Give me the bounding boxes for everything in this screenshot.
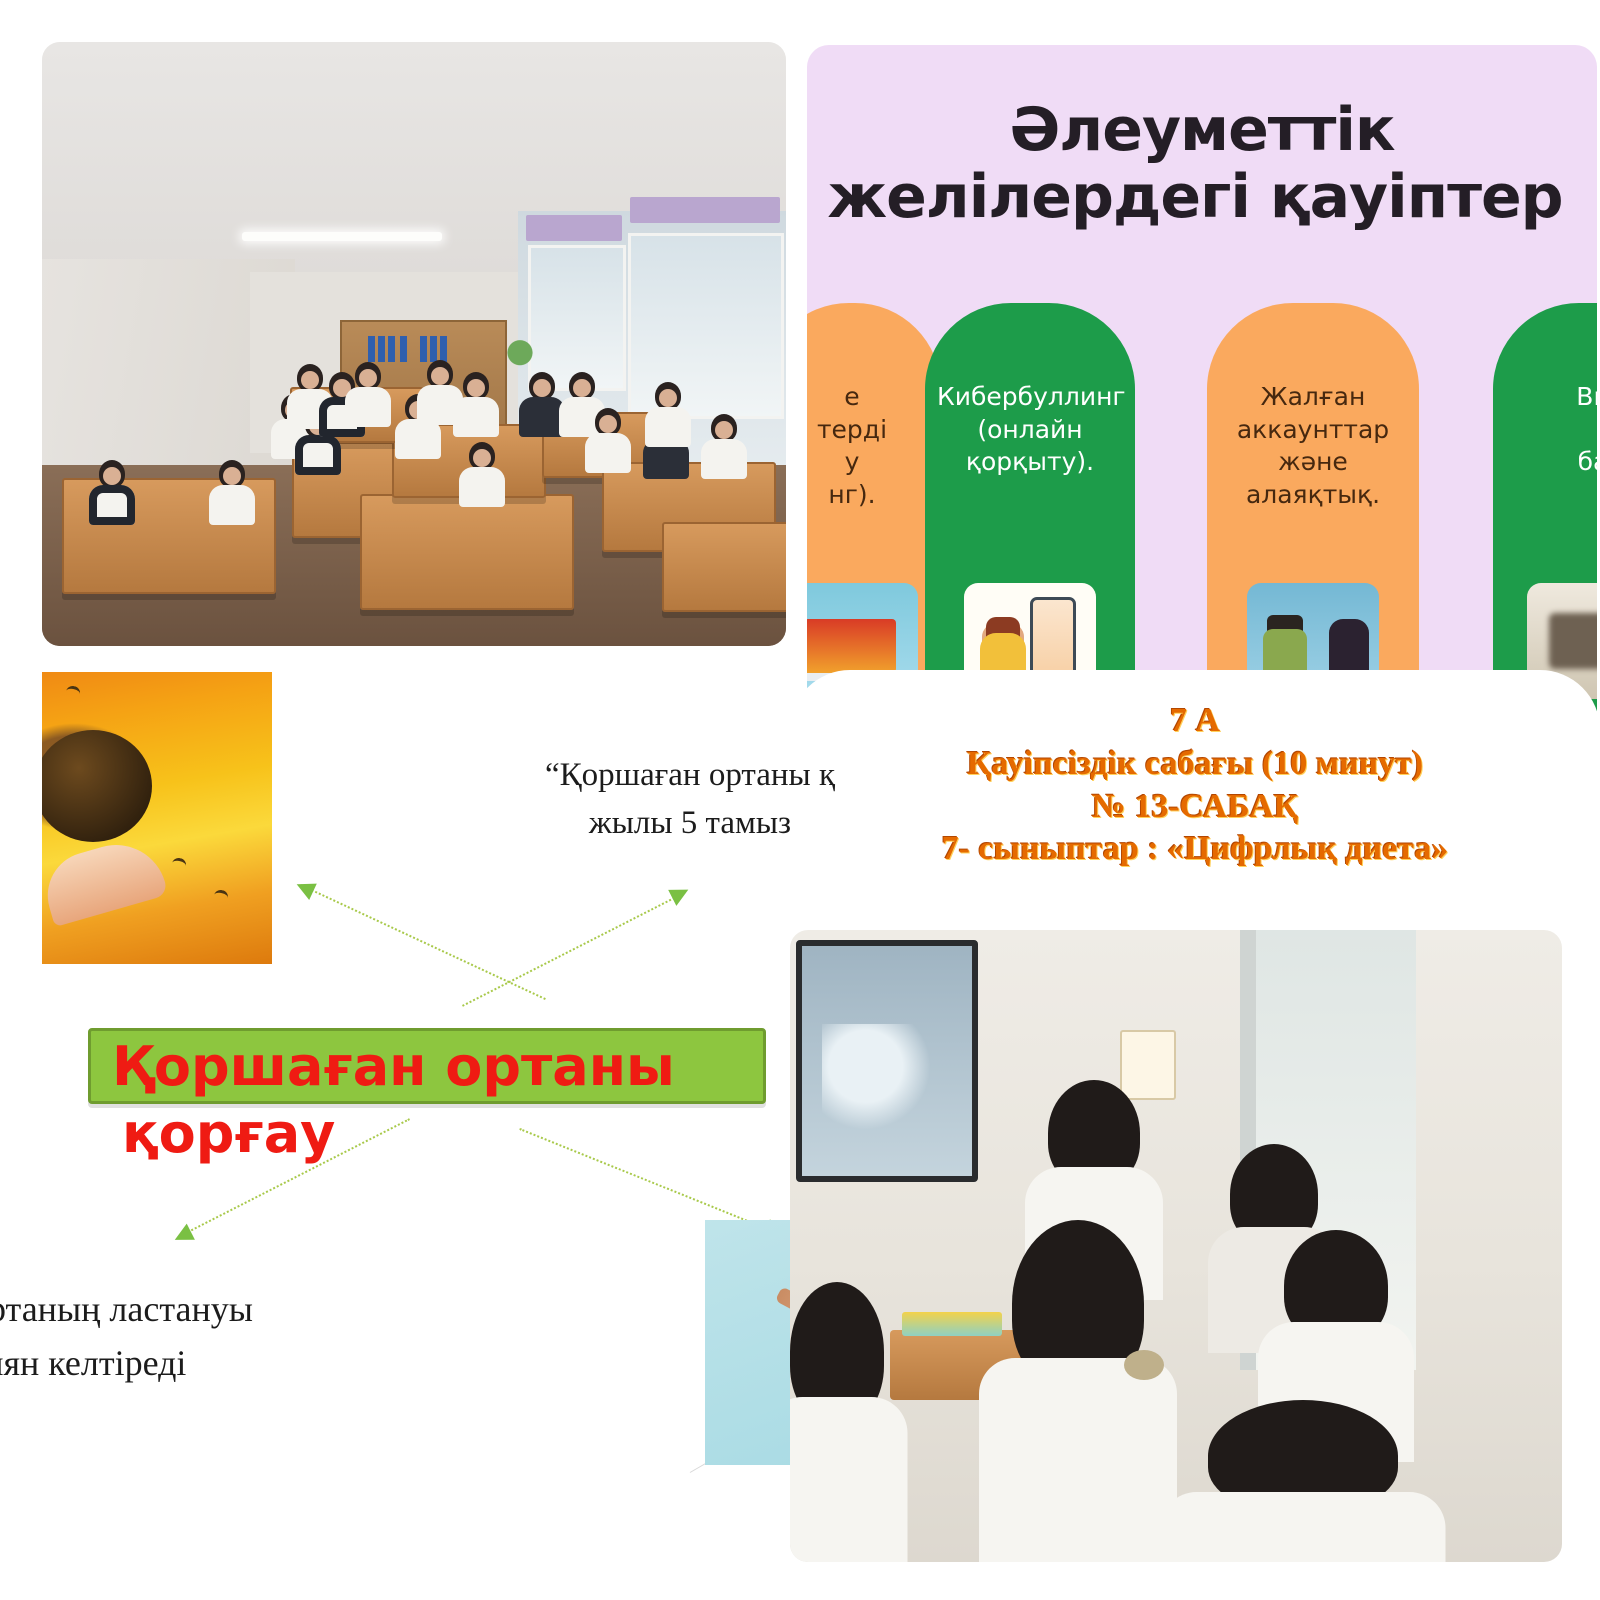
- classroom-wide-photo: [42, 42, 786, 646]
- globe: [42, 730, 152, 842]
- lesson-caption-line1: 7 А: [790, 700, 1600, 743]
- window-blind: [526, 215, 622, 241]
- mindmap-center-label: Қоршаған ортаны қорғау: [112, 1034, 832, 1168]
- collage-canvas: Әлеуметтік желілердегі қауіптер етердіун…: [0, 0, 1600, 1600]
- ceiling-lamp: [242, 232, 442, 241]
- risk-card-3-text: Жалғанаккаунттаржәнеалаяқтық.: [1207, 381, 1419, 511]
- social-network-risks-slide: Әлеуметтік желілердегі қауіптер етердіун…: [807, 45, 1597, 745]
- risk-card-4-text: Виба: [1493, 381, 1597, 479]
- risk-card-3: Жалғанаккаунттаржәнеалаяқтық.: [1207, 303, 1419, 733]
- bird-silhouette: [65, 685, 81, 701]
- hair-scrunchie: [1124, 1350, 1164, 1380]
- mindmap-center-line1: Қоршаған ортаны: [112, 1035, 675, 1098]
- mindmap-top-line1: “Қоршаған ортаны қ: [430, 752, 950, 800]
- mindmap-center-line2: қорғау: [122, 1101, 832, 1168]
- risk-card-2: Кибербуллинг(онлайнқорқыту).: [925, 303, 1135, 733]
- mindmap-top-line2: жылы 5 тамыз: [430, 800, 950, 848]
- desk: [360, 494, 574, 610]
- hand: [42, 833, 169, 927]
- textbook: [902, 1312, 1002, 1336]
- classroom-students-from-behind-photo: [790, 930, 1562, 1562]
- mindmap-bottom-line2: зиян келтіреді: [0, 1336, 490, 1390]
- risk-card-1-text: етердіунг).: [807, 381, 941, 511]
- window-pane: [628, 233, 784, 419]
- student-back: [790, 1282, 884, 1532]
- window-pane: [528, 245, 626, 391]
- student-back: [1208, 1400, 1398, 1562]
- bird-silhouette: [171, 857, 187, 873]
- risk-card-2-text: Кибербуллинг(онлайнқорқыту).: [925, 381, 1135, 479]
- potted-plant: [503, 338, 537, 380]
- risk-card-1: етердіунг).: [807, 303, 941, 733]
- burning-earth-photo: [42, 672, 272, 964]
- bird-silhouette: [213, 889, 229, 905]
- interactive-whiteboard: [796, 940, 978, 1182]
- mindmap-top-text: “Қоршаған ортаны қ жылы 5 тамыз: [430, 752, 950, 848]
- mindmap-bottom-line1: ортаның ластануы: [0, 1282, 490, 1336]
- mindmap-bottom-text: ортаның ластануы зиян келтіреді: [0, 1282, 490, 1390]
- slide-title-line1: Әлеуметтік: [807, 97, 1597, 164]
- risk-card-4: Виба: [1493, 303, 1597, 733]
- desk: [662, 522, 786, 612]
- mindmap-arrow-upright: [462, 892, 685, 1005]
- slide-title-line2: желілердегі қауіптер: [807, 164, 1597, 231]
- window-blind: [630, 197, 780, 223]
- slide-title: Әлеуметтік желілердегі қауіптер: [807, 97, 1597, 231]
